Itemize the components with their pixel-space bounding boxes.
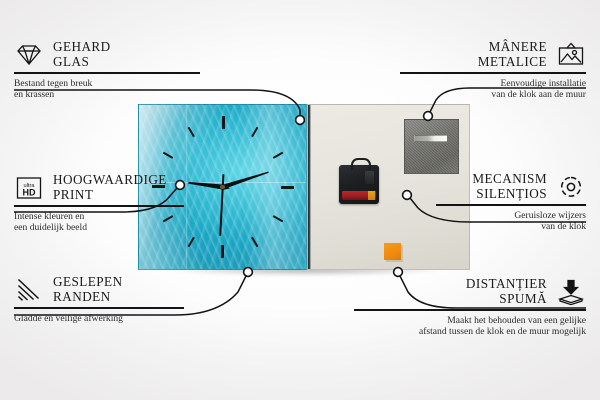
- minute-hand: [223, 170, 277, 191]
- svg-text:HD: HD: [23, 187, 36, 197]
- feature-title: MÂNERE METALICE: [478, 40, 547, 69]
- feature-rule: [14, 72, 200, 73]
- feature-title: HOOGWAARDIGE PRINT: [53, 173, 167, 202]
- feature-rule: [14, 205, 184, 206]
- diamond-icon: [14, 41, 44, 69]
- feature-rule: [400, 72, 586, 73]
- second-hand: [218, 187, 223, 249]
- wall-mount-frame-icon: [556, 41, 586, 69]
- feature-rule: [354, 309, 586, 310]
- feature-title: GEHARD GLAS: [53, 40, 111, 69]
- feature-distantier-spuma: DISTANȚIER SPUMĂ Maakt het behouden van …: [354, 277, 586, 338]
- feature-subtitle: Maakt het behouden van een gelijke afsta…: [354, 315, 586, 338]
- foam-spacer: [384, 243, 401, 260]
- ultra-hd-icon: ultra HD: [14, 174, 44, 202]
- feature-gehard-glas: GEHARD GLAS Bestand tegen breuk en krass…: [14, 40, 200, 101]
- movement-detail: [365, 171, 374, 184]
- clock-movement: [339, 165, 379, 204]
- feature-subtitle: Eenvoudige installatie van de klok aan d…: [400, 78, 586, 101]
- feature-hoogwaardige-print: ultra HD HOOGWAARDIGE PRINT Intense kleu…: [14, 173, 184, 234]
- movement-hanger-loop: [351, 158, 371, 170]
- feature-title: GESLEPEN RANDEN: [53, 275, 123, 304]
- panel-edge: [308, 105, 311, 269]
- metal-hanger-plate: [404, 119, 459, 174]
- beveled-edges-icon: [14, 276, 44, 304]
- feature-rule: [14, 307, 184, 308]
- feature-subtitle: Intense kleuren en een duidelijk beeld: [14, 211, 184, 234]
- gear-icon: [556, 173, 586, 201]
- feature-subtitle: Gladde en veilige afwerking: [14, 313, 184, 325]
- feature-title: DISTANȚIER SPUMĂ: [466, 277, 547, 306]
- feature-manere-metalice: MÂNERE METALICE Eenvoudige installatie v…: [400, 40, 586, 101]
- foam-spacer-icon: [556, 278, 586, 306]
- hanger-slot: [414, 135, 448, 142]
- product-image: [138, 104, 470, 270]
- hour-hand: [181, 177, 223, 187]
- clock-center-pin: [220, 185, 224, 189]
- feature-subtitle: Geruisloze wijzers van de klok: [436, 210, 586, 233]
- feature-title: MECANISM SILENȚIOS: [472, 172, 547, 201]
- feature-mecanism-silentios: MECANISM SILENȚIOS Geruisloze wijzers va…: [436, 172, 586, 233]
- infographic-canvas: GEHARD GLAS Bestand tegen breuk en krass…: [0, 0, 600, 400]
- feature-subtitle: Bestand tegen breuk en krassen: [14, 78, 200, 101]
- battery: [342, 191, 376, 200]
- feature-rule: [436, 204, 586, 205]
- feature-geslepen-randen: GESLEPEN RANDEN Gladde en veilige afwerk…: [14, 275, 184, 324]
